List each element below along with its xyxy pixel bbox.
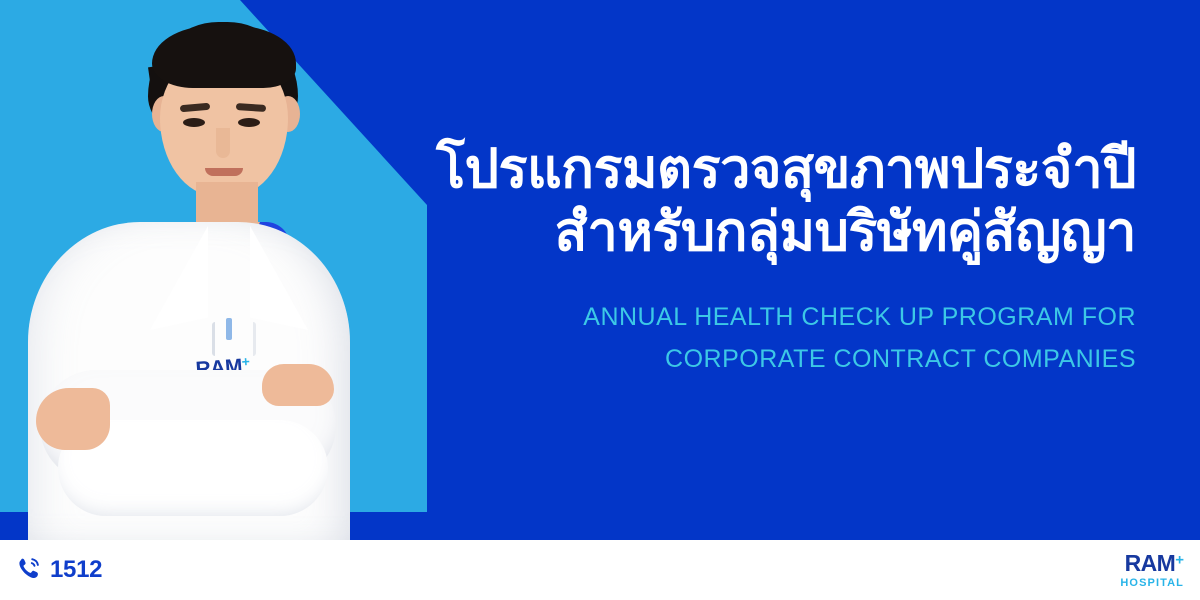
promotional-banner: RAM+ HOSPIT โปรแกรมตรวจสุขภาพประจำปี สำห… (0, 0, 1200, 600)
headline-thai: โปรแกรมตรวจสุขภาพประจำปี สำหรับกลุ่มบริษ… (376, 138, 1136, 263)
doctor-pocket-pen (226, 318, 232, 340)
banner-copy: โปรแกรมตรวจสุขภาพประจำปี สำหรับกลุ่มบริษ… (376, 138, 1136, 380)
doctor-eye-left (183, 118, 205, 127)
banner-stage: RAM+ HOSPIT โปรแกรมตรวจสุขภาพประจำปี สำห… (0, 0, 1200, 540)
phone-call-icon (16, 555, 42, 586)
doctor-coat-pocket (212, 322, 256, 356)
uniform-logo-plus-icon: + (241, 353, 250, 370)
doctor-mouth (205, 168, 243, 176)
subtitle-line-2: CORPORATE CONTRACT COMPANIES (376, 339, 1136, 381)
doctor-hand-right (262, 364, 334, 406)
contact-phone[interactable]: 1512 (16, 540, 102, 600)
headline-line-2: สำหรับกลุ่มบริษัทคู่สัญญา (376, 201, 1136, 264)
phone-number: 1512 (50, 556, 102, 584)
ram-hospital-logo[interactable]: RAM+ HOSPITAL (1120, 540, 1184, 600)
logo-brand-row: RAM+ (1125, 552, 1184, 575)
doctor-portrait: RAM+ HOSPIT (0, 0, 430, 540)
subtitle-line-1: ANNUAL HEALTH CHECK UP PROGRAM FOR (376, 297, 1136, 339)
logo-plus-icon: + (1175, 551, 1184, 568)
doctor-hand-left (36, 388, 110, 450)
logo-sub: HOSPITAL (1120, 578, 1184, 589)
footer-bar: 1512 RAM+ HOSPITAL (0, 540, 1200, 600)
doctor-nose (216, 128, 230, 158)
headline-line-1: โปรแกรมตรวจสุขภาพประจำปี (376, 138, 1136, 201)
logo-brand: RAM (1125, 550, 1176, 576)
doctor-fringe (152, 26, 296, 88)
subtitle-english: ANNUAL HEALTH CHECK UP PROGRAM FOR CORPO… (376, 297, 1136, 380)
doctor-eye-right (238, 118, 260, 127)
